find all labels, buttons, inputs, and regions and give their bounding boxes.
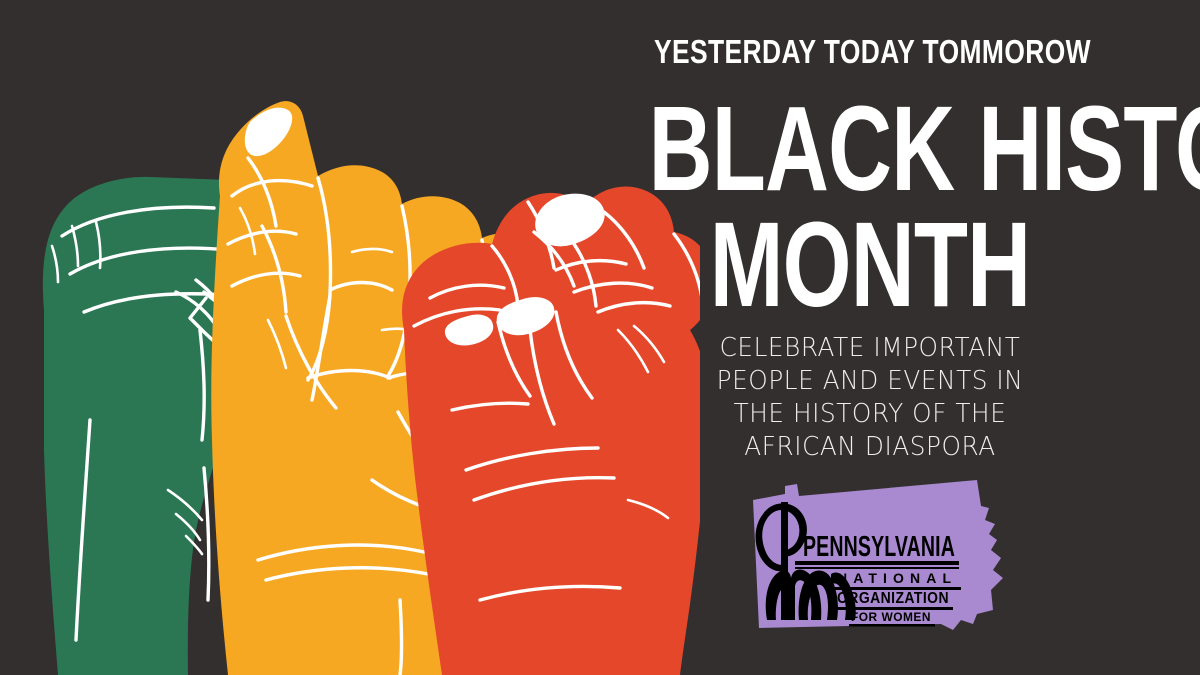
logo-line-pennsylvania: PENNSYLVANIA — [803, 531, 955, 563]
logo-line-organization: ORGANIZATION — [837, 590, 949, 607]
headline-line-2: MONTH — [649, 202, 1092, 327]
body-copy-line-1: CELEBRATE IMPORTANT — [642, 332, 1098, 365]
body-copy: CELEBRATE IMPORTANT PEOPLE AND EVENTS IN… — [642, 332, 1098, 464]
body-copy-line-3: THE HISTORY OF THE — [642, 398, 1098, 431]
kicker-text: YESTERDAY TODAY TOMMOROW — [654, 32, 1086, 72]
text-block: YESTERDAY TODAY TOMMOROW BLACK HISTORY M… — [600, 0, 1200, 675]
pennsylvania-now-logo: PENNSYLVANIA NATIONAL ORGANIZATION FOR W… — [745, 478, 1017, 638]
body-copy-line-2: PEOPLE AND EVENTS IN — [642, 365, 1098, 398]
logo-line-for-women: FOR WOMEN — [851, 610, 931, 624]
body-copy-line-4: AFRICAN DIASPORA — [642, 431, 1098, 464]
headline-line-1: BLACK HISTORY — [649, 86, 1092, 211]
poster-canvas: .gfill{fill:#2B7754} .yfill{fill:#F7A823… — [0, 0, 1200, 675]
three-raised-fists-artwork: .gfill{fill:#2B7754} .yfill{fill:#F7A823… — [0, 0, 700, 675]
logo-line-national: NATIONAL — [837, 570, 957, 586]
